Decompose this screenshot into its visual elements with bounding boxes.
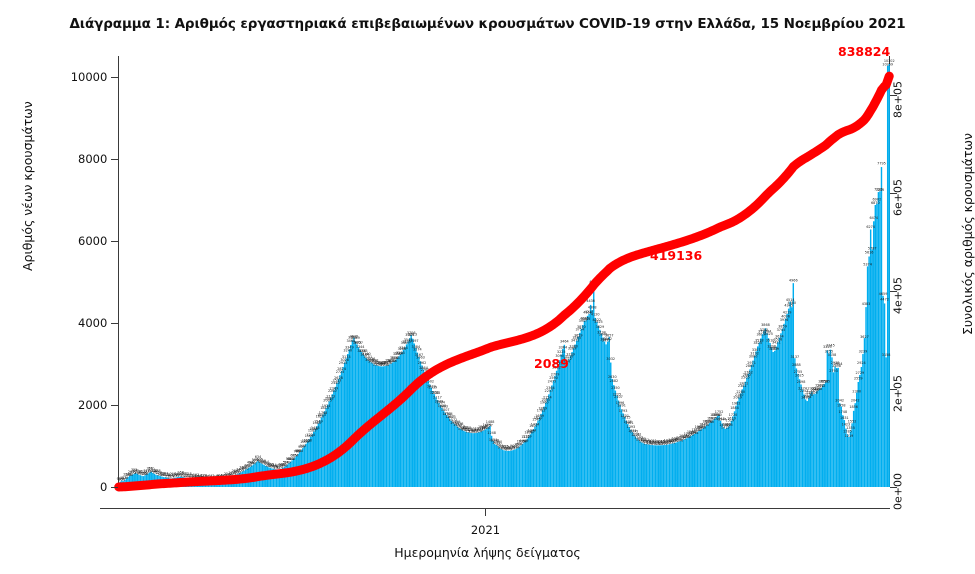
chart-title: Διάγραμμα 1: Αριθμός εργαστηριακά επιβεβ… xyxy=(0,16,975,32)
plot-area: 9513215814117621024326829130532234131829… xyxy=(118,56,890,487)
y-left-tick-label: 4000 xyxy=(78,316,110,330)
y-left-tick-label: 6000 xyxy=(78,234,110,248)
y-left-tick-mark xyxy=(111,77,118,78)
y-left-tick-label: 8000 xyxy=(78,152,110,166)
y-left-tick-label: 0 xyxy=(100,480,110,494)
x-axis-title: Ημερομηνία λήψης δείγματος xyxy=(0,545,975,560)
y-axis-left-title: Αριθμός νέων κρουσμάτων xyxy=(20,101,35,271)
x-axis-line xyxy=(100,508,890,509)
annotation-final-total: 838824 xyxy=(838,44,890,59)
x-tick-mark xyxy=(485,509,486,516)
y-left-tick-mark xyxy=(111,241,118,242)
y-left-tick-label: 10000 xyxy=(71,70,111,84)
y-left-tick-mark xyxy=(111,159,118,160)
y-left-tick-mark xyxy=(111,323,118,324)
y-right-tick-label: 4e+05 xyxy=(891,277,904,318)
x-tick-label: 2021 xyxy=(471,523,500,537)
y-left-tick-mark xyxy=(111,405,118,406)
cumulative-line-layer xyxy=(118,56,890,487)
y-left-tick-label: 2000 xyxy=(78,398,110,412)
y-right-tick-label: 2e+05 xyxy=(891,375,904,416)
annotation-early-total: 2089 xyxy=(534,356,569,371)
annotation-mid-total: 419136 xyxy=(650,248,702,263)
y-axis-right-title: Συνολικός αριθμός κρουσμάτων xyxy=(960,133,975,335)
y-right-tick-label: 0e+00 xyxy=(891,473,904,514)
y-left-tick-mark xyxy=(111,487,118,488)
y-right-tick-label: 8e+05 xyxy=(891,81,904,122)
y-right-tick-label: 6e+05 xyxy=(891,179,904,220)
chart-container: Διάγραμμα 1: Αριθμός εργαστηριακά επιβεβ… xyxy=(0,0,975,574)
